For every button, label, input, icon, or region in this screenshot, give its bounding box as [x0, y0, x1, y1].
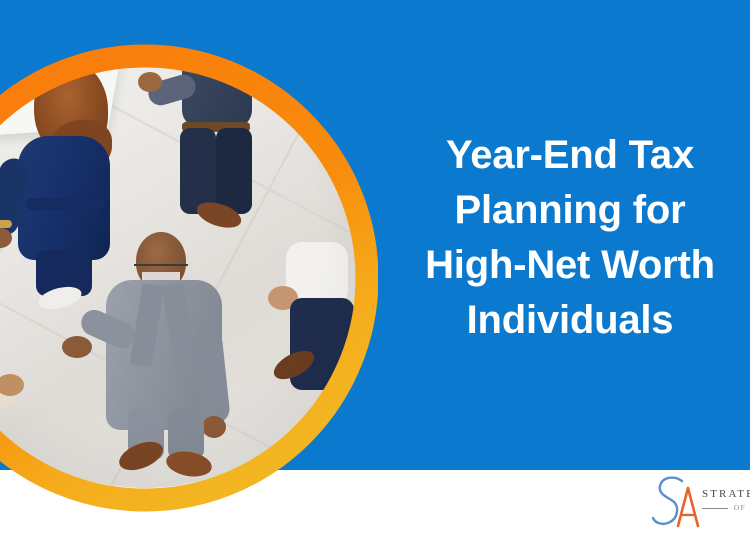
- hero-photo: [0, 46, 366, 488]
- photo-vignette: [0, 46, 366, 488]
- sa-monogram-icon: [648, 474, 702, 532]
- title-line-3: High-Net Worth: [390, 238, 750, 293]
- title-line-2: Planning for: [390, 183, 750, 238]
- logo-subword: OF I: [734, 504, 750, 512]
- logo-wordmark: STRATEGIC OF I: [702, 488, 750, 512]
- page-title: Year-End Tax Planning for High-Net Worth…: [390, 128, 750, 348]
- logo-divider: [702, 508, 728, 509]
- photo-floor: [0, 46, 366, 488]
- logo-subline: OF I: [702, 504, 750, 512]
- title-line-4: Individuals: [390, 293, 750, 348]
- title-line-1: Year-End Tax: [390, 128, 750, 183]
- logo-word: STRATEGIC: [702, 488, 750, 501]
- company-logo[interactable]: STRATEGIC OF I: [648, 474, 750, 532]
- article-banner: Year-End Tax Planning for High-Net Worth…: [0, 0, 750, 536]
